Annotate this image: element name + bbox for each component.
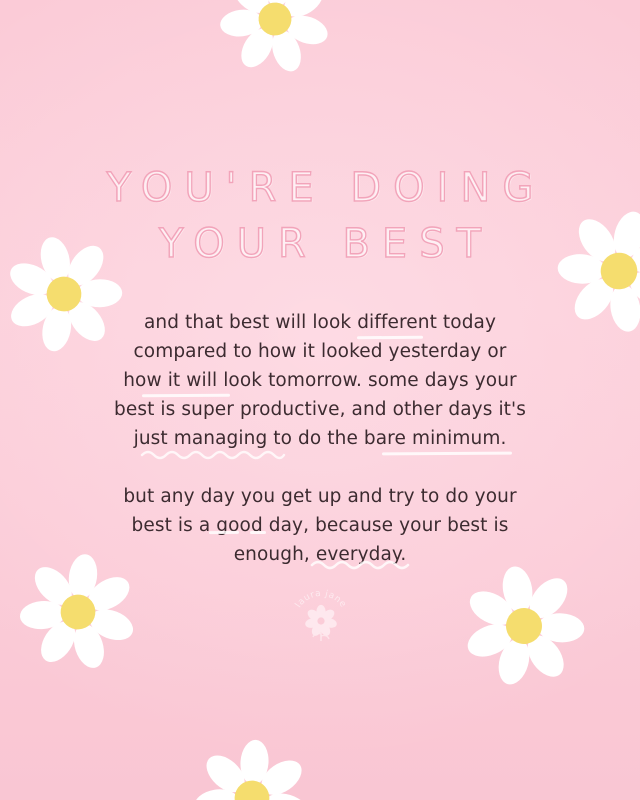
paragraph-spacer — [64, 453, 576, 482]
quote-graphic-canvas: YOU'RE DOING YOUR BEST and that best wil… — [0, 0, 640, 800]
page-title: YOU'RE DOING YOUR BEST — [0, 168, 640, 264]
daisy-top-center — [217, 0, 333, 77]
quote-paragraph-1: and that best will look different today … — [64, 308, 576, 453]
watermark-text: laura jane — [294, 589, 348, 610]
quote-body: and that best will look different today … — [64, 308, 576, 569]
body-line-1: and that best will look different today — [144, 312, 496, 333]
body-line-3: how it will look tomorrow. some days you… — [123, 370, 517, 391]
body-line-6: but any day you get up and try to do you… — [123, 486, 516, 507]
body-line-4: best is super productive, and other days… — [114, 399, 526, 420]
daisy-bottom-center — [192, 738, 312, 800]
body-line-2: compared to how it looked yesterday or — [134, 341, 507, 362]
body-line-5: just managing to do the bare minimum. — [134, 428, 507, 449]
brand-watermark: laura jane — [289, 583, 353, 647]
body-line-7: best is a good day, because your best is — [132, 515, 509, 536]
body-line-8: enough, everyday. — [234, 544, 407, 565]
watermark-textpath: laura jane — [294, 589, 348, 610]
heading-line-2: YOUR BEST — [0, 224, 640, 264]
quote-paragraph-2: but any day you get up and try to do you… — [64, 482, 576, 569]
daisy-right-lower — [457, 559, 591, 693]
heading-line-1: YOU'RE DOING — [0, 168, 640, 208]
